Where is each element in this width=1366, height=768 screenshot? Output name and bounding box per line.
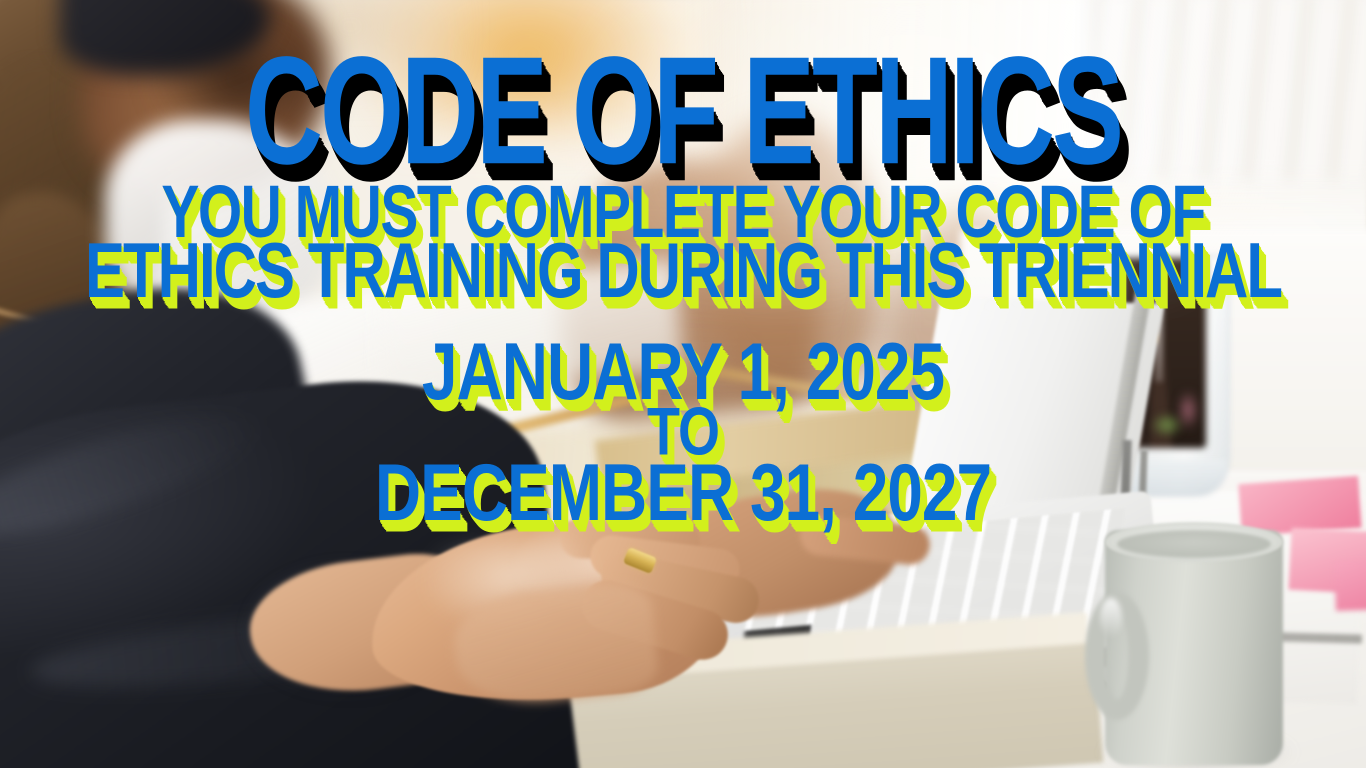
banner-date-end: DECEMBER 31, 2027 [0, 452, 1366, 533]
banner-text-overlay: CODE OF ETHICS YOU MUST COMPLETE YOUR CO… [0, 0, 1366, 768]
banner-title: CODE OF ETHICS [0, 34, 1366, 187]
banner-subtitle-line-2: ETHICS TRAINING DURING THIS TRIENNIAL [0, 232, 1366, 310]
code-of-ethics-banner: CODE OF ETHICS YOU MUST COMPLETE YOUR CO… [0, 0, 1366, 768]
